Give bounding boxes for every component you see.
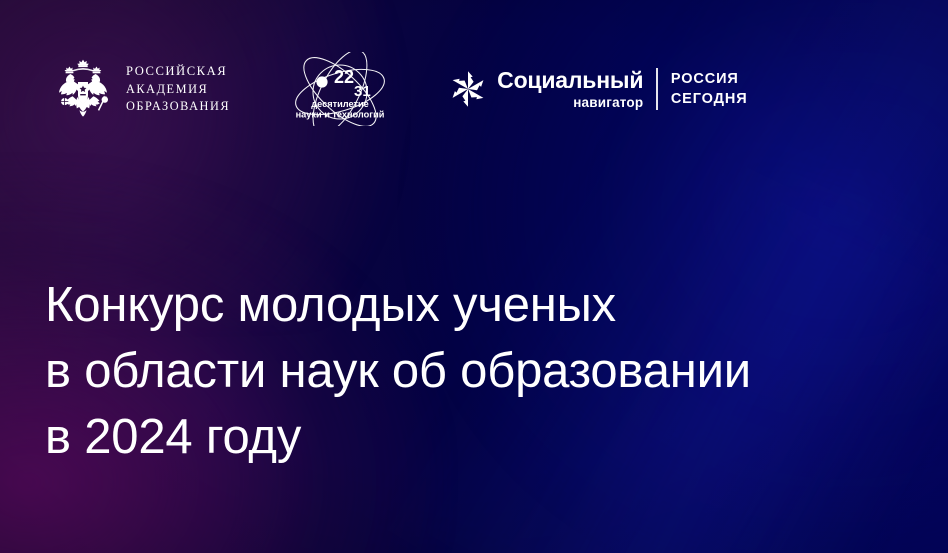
rae-line-1: Российская [126,65,230,78]
social-navigator-line-2: навигатор [497,96,643,110]
atom-orbit-icon: 22 31 десятилетие науки и технологий [278,52,402,126]
russia-today-line-2: СЕГОДНЯ [671,92,748,107]
social-navigator-wordmark: Социальный навигатор [497,69,643,110]
page-title-line-3: в 2024 году [45,404,751,470]
partner-logo-row: Российская академия образования 22 31 де… [52,52,748,126]
orbit-node-icon [317,76,328,87]
page-title-line-2: в области наук об образовании [45,338,751,404]
logo-decade-of-science-and-technology: 22 31 десятилетие науки и технологий [278,52,402,126]
decade-year-start: 22 [334,67,354,87]
promo-banner: Российская академия образования 22 31 де… [0,0,948,553]
decade-label-line-1: десятилетие [311,99,368,109]
logo-russian-academy-of-education: Российская академия образования [52,54,230,124]
logo-social-navigator-russia-today: Социальный навигатор РОССИЯ СЕГОДНЯ [448,59,747,119]
russia-today-wordmark: РОССИЯ СЕГОДНЯ [671,72,748,106]
rae-line-3: образования [126,100,230,112]
double-headed-eagle-emblem-icon [52,56,114,122]
snowflake-pinwheel-icon [448,69,488,109]
social-navigator-line-1: Социальный [497,69,643,92]
page-title-line-1: Конкурс молодых ученых [45,272,751,338]
logo-divider [656,68,658,110]
decade-label-line-2: науки и технологий [296,110,385,120]
russia-today-line-1: РОССИЯ [671,72,748,87]
decade-year-end: 31 [354,83,371,100]
rae-line-2: академия [126,83,230,95]
rae-wordmark: Российская академия образования [126,65,230,112]
page-title: Конкурс молодых ученых в области наук об… [45,272,751,470]
